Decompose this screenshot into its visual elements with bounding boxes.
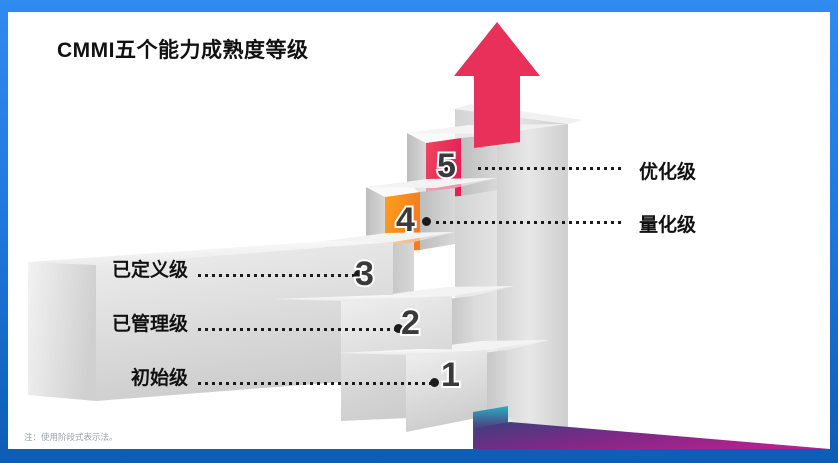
connector-line-1 [198,382,435,385]
connector-line-2 [198,328,398,331]
label-defined: 已定义级 [8,255,188,282]
footnote: 注：使用阶段式表示法。 [24,431,118,443]
step-number-2: 2 [401,304,420,343]
label-initial: 初始级 [8,363,188,390]
step-number-1: 1 [441,356,460,395]
label-optimizing: 优化级 [639,157,696,184]
connector-dot-4 [422,217,431,226]
slide-canvas: CMMI五个能力成熟度等级 [8,12,830,449]
connector-line-3 [198,274,360,277]
connector-line-5 [478,167,625,170]
connector-line-4 [436,221,625,224]
step-number-3: 3 [355,255,374,294]
step-number-5: 5 [437,147,456,186]
connector-dot-1 [430,378,439,387]
step-number-4: 4 [396,201,415,240]
label-managed: 已管理级 [8,309,188,336]
label-quantitative: 量化级 [639,210,696,237]
slide-frame: CMMI五个能力成熟度等级 [0,0,838,463]
